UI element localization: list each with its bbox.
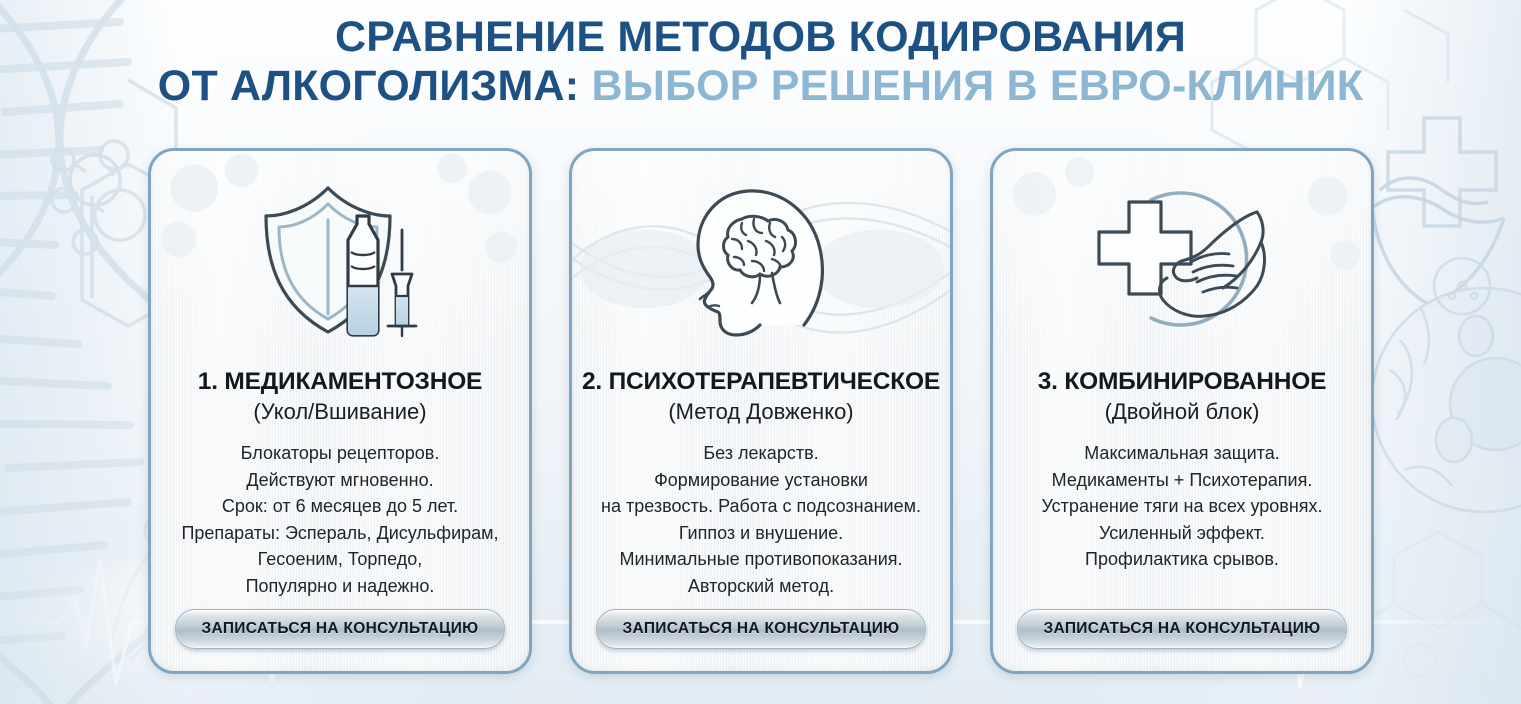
card-1-subtitle: (Укол/Вшивание) bbox=[253, 399, 426, 424]
card-2-consultation-button[interactable]: ЗАПИСАТЬСЯ НА КОНСУЛЬТАЦИЮ bbox=[596, 609, 927, 649]
card-3-consultation-button[interactable]: ЗАПИСАТЬСЯ НА КОНСУЛЬТАЦИЮ bbox=[1017, 609, 1348, 649]
cell-diagram-icon bbox=[1372, 258, 1521, 512]
card-3-subtitle: (Двойной блок) bbox=[1105, 399, 1260, 424]
head-brain-icon bbox=[686, 175, 836, 345]
method-cards-row: 1. МЕДИКАМЕНТОЗНОЕ (Укол/Вшивание) Блока… bbox=[148, 148, 1374, 674]
card-1-icon-zone bbox=[151, 151, 529, 369]
shield-ampoule-syringe-icon bbox=[256, 182, 424, 338]
card-2-subtitle: (Метод Довженко) bbox=[668, 399, 853, 424]
method-card-psikhoterapevticheskoe[interactable]: 2. ПСИХОТЕРАПЕВТИЧЕСКОЕ (Метод Довженко)… bbox=[569, 148, 953, 674]
hexagon-network-bottom-icon bbox=[1350, 532, 1521, 676]
method-card-medikamentoznoe[interactable]: 1. МЕДИКАМЕНТОЗНОЕ (Укол/Вшивание) Блока… bbox=[148, 148, 532, 674]
dna-rungs bbox=[0, 22, 140, 644]
card-2-title: 2. ПСИХОТЕРАПЕВТИЧЕСКОЕ bbox=[582, 369, 940, 396]
card-2-icon-zone bbox=[572, 151, 950, 369]
card-1-body: Блокаторы рецепторов. Действуют мгновенн… bbox=[171, 440, 508, 599]
title-line-2-light: ВЫБОР РЕШЕНИЯ В ЕВРО-КЛИНИК bbox=[591, 62, 1363, 110]
card-3-icon-zone bbox=[993, 151, 1371, 369]
title-line-1: СРАВНЕНИЕ МЕТОДОВ КОДИРОВАНИЯ bbox=[0, 14, 1521, 60]
method-card-kombinirovannoe[interactable]: 3. КОМБИНИРОВАННОЕ (Двойной блок) Максим… bbox=[990, 148, 1374, 674]
card-3-title: 3. КОМБИНИРОВАННОЕ bbox=[1038, 369, 1327, 396]
page-title: СРАВНЕНИЕ МЕТОДОВ КОДИРОВАНИЯ ОТ АЛКОГОЛ… bbox=[0, 14, 1521, 110]
title-line-2-dark: ОТ АЛКОГОЛИЗМА: bbox=[158, 62, 580, 110]
infographic-stage: СРАВНЕНИЕ МЕТОДОВ КОДИРОВАНИЯ ОТ АЛКОГОЛ… bbox=[0, 0, 1521, 704]
cross-helping-hands-icon bbox=[1093, 182, 1271, 338]
card-1-consultation-button[interactable]: ЗАПИСАТЬСЯ НА КОНСУЛЬТАЦИЮ bbox=[175, 609, 506, 649]
card-1-title: 1. МЕДИКАМЕНТОЗНОЕ bbox=[198, 369, 482, 396]
caring-hand-icon bbox=[1372, 178, 1504, 306]
molecule-cluster-right bbox=[1404, 644, 1486, 700]
medical-cross-icon bbox=[1388, 118, 1496, 226]
card-2-body: Без лекарств. Формирование установки на … bbox=[591, 440, 931, 599]
title-line-2: ОТ АЛКОГОЛИЗМА: ВЫБОР РЕШЕНИЯ В ЕВРО-КЛИ… bbox=[0, 63, 1521, 109]
card-3-body: Максимальная защита. Медикаменты + Психо… bbox=[1031, 440, 1332, 572]
